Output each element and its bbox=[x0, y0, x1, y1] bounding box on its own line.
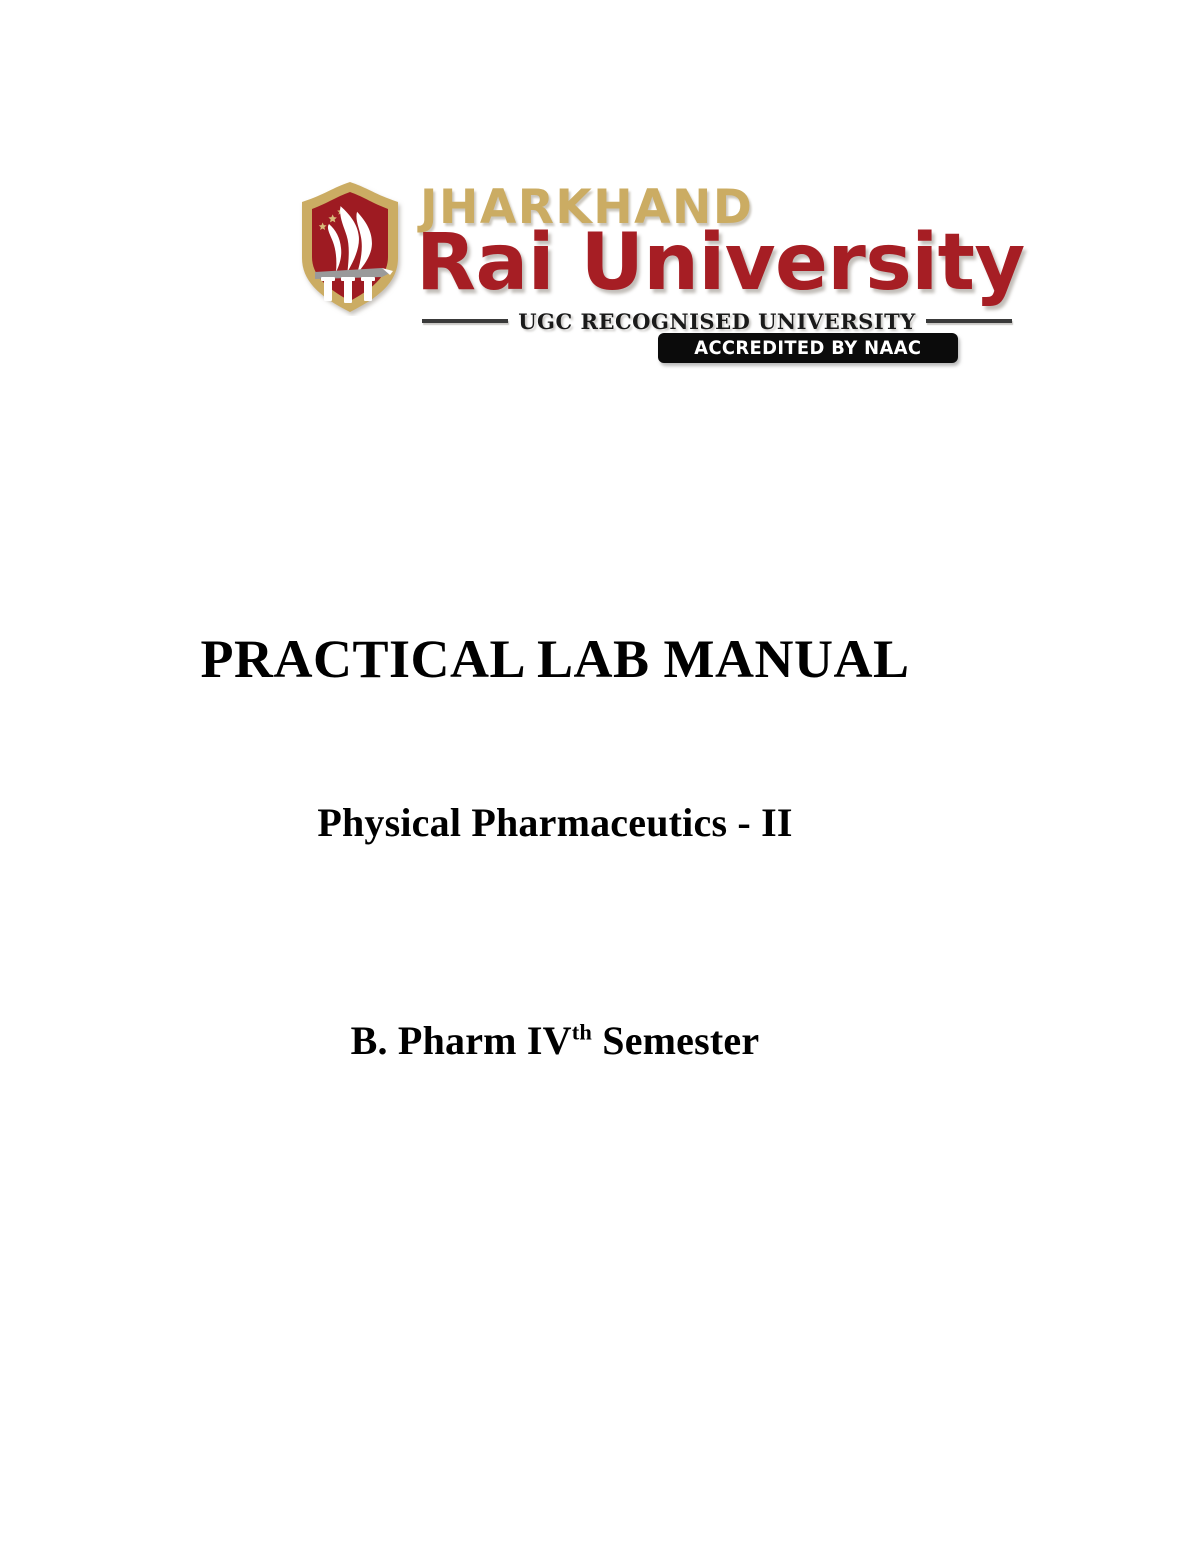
document-title: PRACTICAL LAB MANUAL bbox=[0, 630, 1200, 689]
tagline-rule-right bbox=[926, 319, 1012, 323]
naac-badge-label: ACCREDITED BY NAAC bbox=[694, 337, 921, 359]
logo-tagline: UGC RECOGNISED UNIVERSITY bbox=[518, 309, 916, 334]
logo-text-rai-university: Rai University bbox=[416, 224, 1025, 302]
program-ordinal-suffix: th bbox=[572, 1020, 592, 1045]
logo-wordmark: JHARKHAND Rai University UGC RECOGNISED … bbox=[414, 176, 1020, 372]
program-name: B. Pharm IV bbox=[351, 1018, 572, 1063]
university-logo: JHARKHAND Rai University UGC RECOGNISED … bbox=[296, 176, 1020, 372]
document-subject: Physical Pharmaceutics - II bbox=[0, 800, 1200, 846]
university-shield-icon bbox=[296, 180, 408, 316]
document-page: JHARKHAND Rai University UGC RECOGNISED … bbox=[0, 0, 1200, 1553]
tagline-rule-left bbox=[422, 319, 508, 323]
logo-tagline-row: UGC RECOGNISED UNIVERSITY bbox=[422, 308, 1012, 334]
program-semester-label: Semester bbox=[592, 1018, 759, 1063]
naac-accreditation-badge: ACCREDITED BY NAAC bbox=[658, 333, 958, 363]
document-program: B. Pharm IVth Semester bbox=[0, 1018, 1200, 1064]
